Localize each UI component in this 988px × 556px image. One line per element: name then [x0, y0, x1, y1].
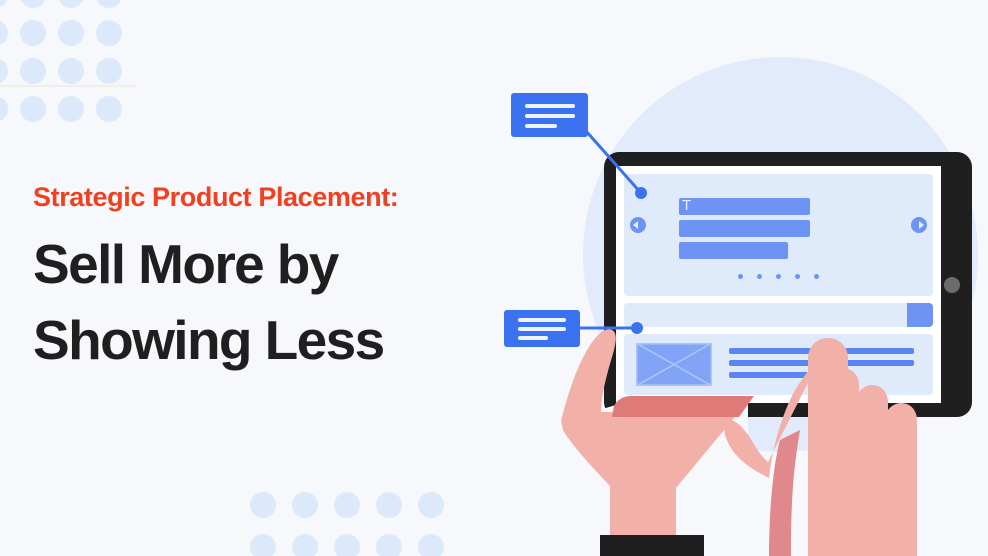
decorative-dot: [20, 58, 46, 84]
decorative-dot: [20, 0, 46, 8]
pagination-dot[interactable]: [795, 274, 800, 279]
product-thumbnail-placeholder-icon: [636, 343, 712, 386]
eyebrow-text: Strategic Product Placement:: [33, 183, 573, 213]
decorative-dot: [58, 58, 84, 84]
decorative-dot: [96, 96, 122, 122]
callout-top-line-2: [525, 114, 575, 118]
decorative-dot: [250, 534, 276, 556]
callout-card-bottom[interactable]: [504, 310, 580, 347]
tablet-device: T: [604, 152, 972, 417]
decorative-dot: [0, 0, 8, 8]
slide-canvas: Strategic Product Placement: Sell More b…: [0, 0, 988, 556]
decorative-dot: [0, 20, 8, 46]
headline-line-1: Sell More by: [33, 227, 573, 303]
decorative-dot: [58, 96, 84, 122]
decorative-hairline: [0, 85, 136, 87]
pagination-dot[interactable]: [814, 274, 819, 279]
carousel-text-glyph: T: [682, 196, 691, 215]
headline-block: Strategic Product Placement: Sell More b…: [33, 183, 573, 378]
decorative-dot: [96, 0, 122, 8]
callout-bottom-line-1: [518, 318, 566, 322]
decorative-dot: [58, 20, 84, 46]
decorative-dot: [334, 492, 360, 518]
carousel-pagination[interactable]: [624, 274, 933, 279]
carousel-headline-bar: [679, 198, 810, 215]
callout-bottom-line-3: [518, 336, 548, 340]
tablet-home-button[interactable]: [944, 277, 960, 293]
decorative-dot: [58, 0, 84, 8]
search-bar[interactable]: [624, 303, 933, 327]
headline-line-2: Showing Less: [33, 303, 573, 379]
decorative-dot: [376, 534, 402, 556]
decorative-dot: [0, 96, 8, 122]
decorative-dot: [0, 58, 8, 84]
decorative-dot: [250, 492, 276, 518]
decorative-dot: [20, 96, 46, 122]
listing-text-line-3: [729, 372, 822, 378]
callout-card-top[interactable]: [511, 93, 588, 137]
carousel-prev-icon[interactable]: [630, 217, 646, 233]
decorative-dot: [20, 20, 46, 46]
listing-text-line-1: [729, 348, 914, 354]
carousel-panel: T: [624, 174, 933, 296]
pagination-dot[interactable]: [776, 274, 781, 279]
callout-bottom-line-2: [518, 327, 566, 331]
carousel-next-icon[interactable]: [911, 217, 927, 233]
callout-top-line-1: [525, 104, 575, 108]
pagination-dot[interactable]: [757, 274, 762, 279]
product-listing-card[interactable]: [624, 334, 933, 395]
search-submit-button[interactable]: [907, 303, 933, 327]
decorative-dot: [96, 20, 122, 46]
decorative-dot: [334, 534, 360, 556]
decorative-dot: [418, 534, 444, 556]
carousel-body-bar-2: [679, 242, 788, 259]
decorative-dot: [96, 58, 122, 84]
decorative-dot: [418, 492, 444, 518]
pagination-dot[interactable]: [738, 274, 743, 279]
tablet-screen: T: [616, 166, 941, 403]
listing-text-line-2: [729, 360, 914, 366]
decorative-dot: [292, 492, 318, 518]
decorative-dot: [376, 492, 402, 518]
carousel-body-bar-1: [679, 220, 810, 237]
callout-top-line-3: [525, 124, 557, 128]
decorative-dot: [292, 534, 318, 556]
